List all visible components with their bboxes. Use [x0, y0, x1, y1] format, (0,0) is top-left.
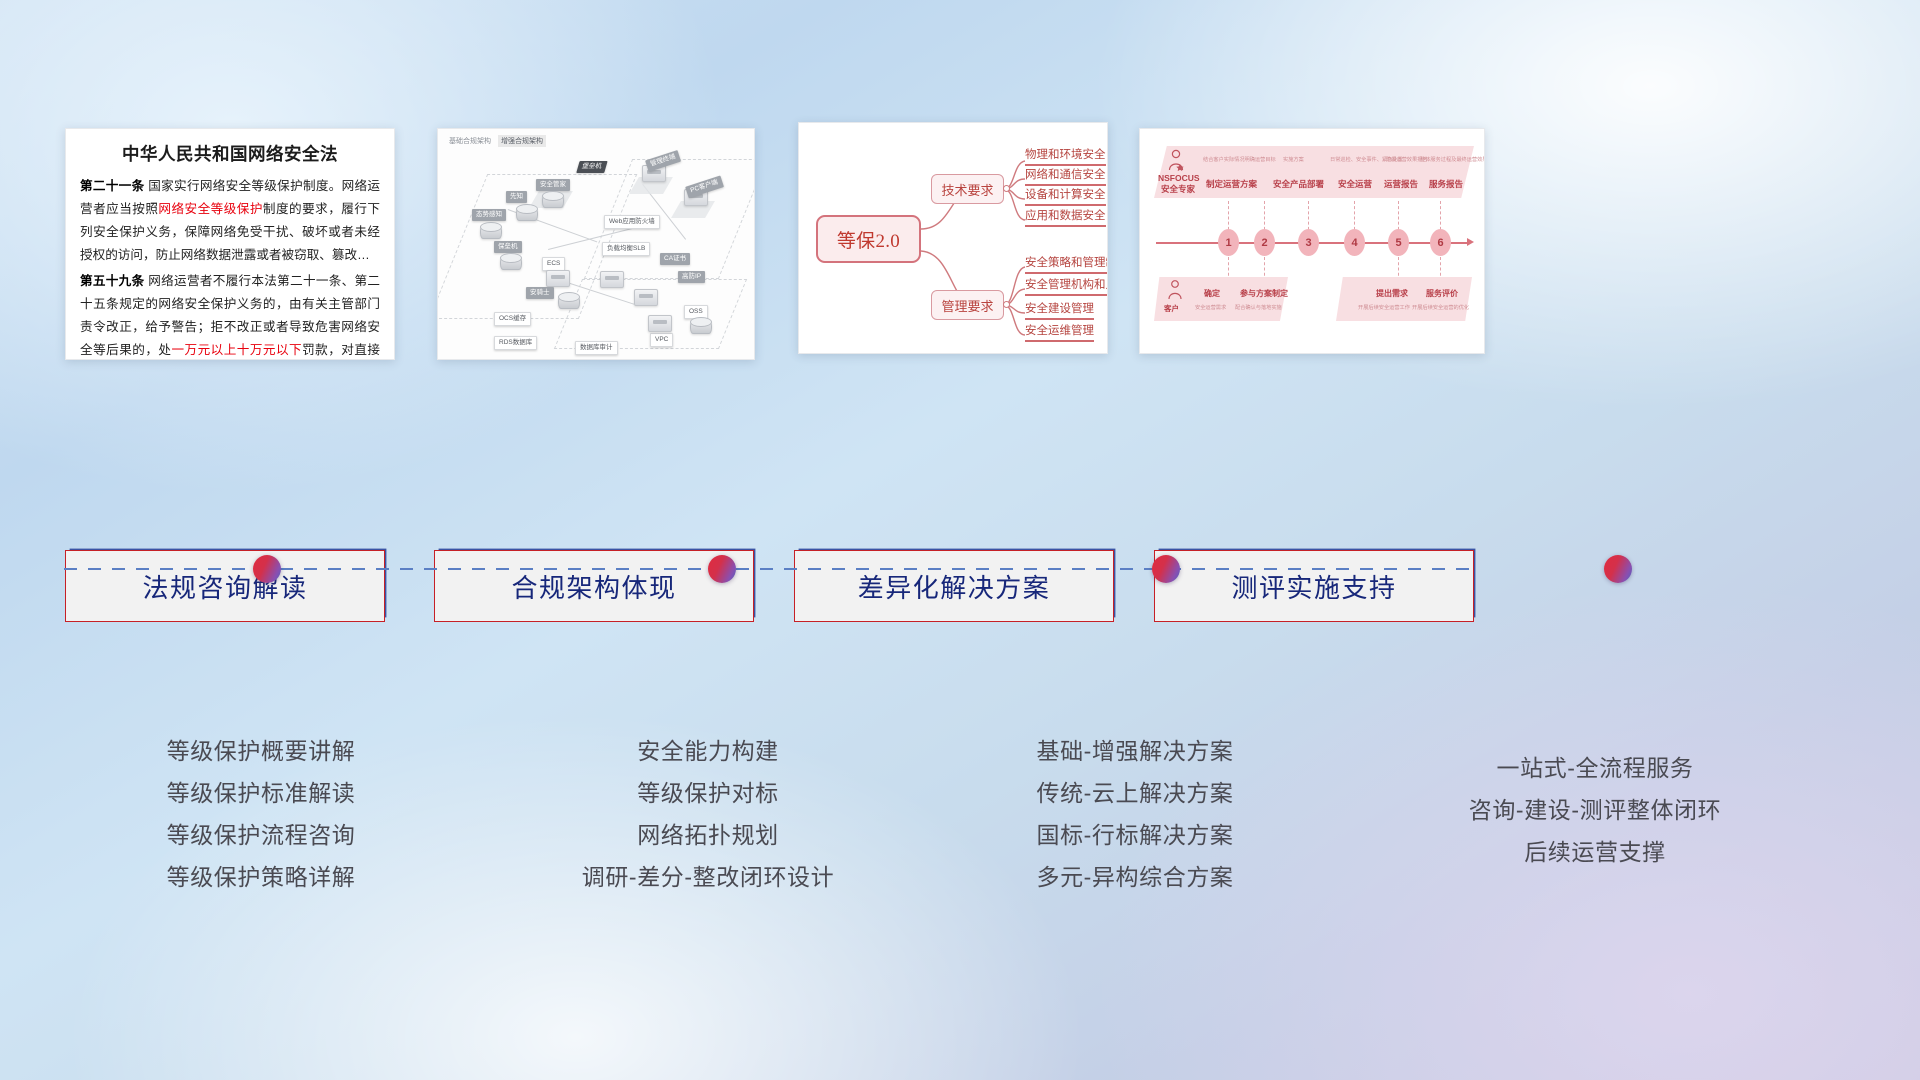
article-21-label: 第二十一条 — [80, 179, 144, 193]
headline-box-2[interactable]: 合规架构体现 — [434, 550, 754, 622]
card-law-text: 中华人民共和国网络安全法 第二十一条 国家实行网络安全等级保护制度。网络运营者应… — [65, 128, 395, 360]
node-anti-ddos-ip: 高防IP — [678, 271, 705, 283]
column-2-item-3: 网络拓扑规划 — [528, 824, 888, 847]
timeline-marker-4[interactable] — [1604, 555, 1632, 583]
stage-5-subtitle: 整体服务过程及最终运营效果 — [1420, 156, 1485, 163]
column-2-item-4: 调研-差分-整改闭环设计 — [528, 866, 888, 889]
mindmap-leaf-construction-mgmt: 安全建设管理 — [1025, 302, 1094, 320]
customer-1-subtitle: 安全运营需求 — [1195, 304, 1226, 311]
customer-4-subtitle: 开展后续安全运营的优化 — [1412, 304, 1469, 311]
node-xianzhi: 先知 — [506, 191, 527, 203]
column-3-item-2: 传统-云上解决方案 — [955, 782, 1315, 805]
column-4-item-1: 一站式-全流程服务 — [1380, 757, 1810, 780]
mindmap-leaf-org-personnel: 安全管理机构和人员 — [1025, 278, 1108, 296]
pbox-slb-a — [600, 271, 624, 288]
customer-icon — [1166, 279, 1184, 301]
column-4-item-3: 后续运营支撑 — [1380, 841, 1810, 864]
cylinder-xianzhi — [516, 207, 538, 221]
column-2-item-2: 等级保护对标 — [528, 782, 888, 805]
mindmap-leaf-ops-mgmt: 安全运维管理 — [1025, 324, 1094, 342]
customer-2-title: 参与方案制定 — [1240, 288, 1288, 299]
customer-4-title: 服务评价 — [1426, 288, 1458, 299]
law-article-21: 第二十一条 国家实行网络安全等级保护制度。网络运营者应当按照网络安全等级保护制度… — [80, 175, 380, 267]
column-4-item-2: 咨询-建设-测评整体闭环 — [1380, 799, 1810, 822]
article-59-label: 第五十九条 — [80, 274, 144, 288]
expert-icon — [1166, 149, 1186, 173]
node-bastion-host-dark: 堡垒机 — [576, 161, 607, 173]
node-load-balancer-slb: 负载均衡SLB — [602, 242, 650, 256]
stage-3-title: 安全运营 — [1338, 178, 1372, 190]
headline-label-4: 测评实施支持 — [1231, 568, 1396, 605]
node-bastion-host: 保垒机 — [494, 241, 522, 253]
pbox-vpc — [648, 315, 672, 332]
column-1: 等级保护概要讲解 等级保护标准解读 等级保护流程咨询 等级保护策略详解 — [65, 740, 457, 908]
customer-1-title: 确定 — [1204, 288, 1220, 299]
customer-2-subtitle: 配合确认与落地实施 — [1235, 304, 1282, 311]
customer-3-subtitle: 开展后续安全运营工作 — [1358, 304, 1410, 311]
mindmap-branch-management: 管理要求 — [931, 290, 1004, 320]
nsfocus-brand-line2: 安全专家 — [1158, 184, 1198, 195]
customer-label: 客户 — [1164, 303, 1179, 314]
timeline-node-6: 6 — [1430, 229, 1451, 256]
customer-3-title: 提出需求 — [1376, 288, 1408, 299]
stage-1-title: 制定运营方案 — [1206, 178, 1257, 190]
timeline-node-3: 3 — [1298, 229, 1319, 256]
article-59-highlight-1: 一万元以上十万元以下 — [171, 343, 302, 357]
architecture-canvas: 堡垒机 安全管家 先知 态势感知 保垒机 ECS 安骑士 OCS缓存 RDS数据… — [438, 129, 754, 359]
column-2-item-1: 安全能力构建 — [528, 740, 888, 763]
law-article-59: 第五十九条 网络运营者不履行本法第二十一条、第二十五条规定的网络安全保护义务的，… — [80, 270, 380, 360]
timeline-arrow-icon — [1467, 238, 1474, 246]
nsfocus-brand: NSFOCUS 安全专家 — [1158, 173, 1198, 194]
card-cloud-architecture: 基础合规架构 增强合规架构 堡垒机 安全管家 先知 态势感知 保垒机 ECS 安… — [437, 128, 755, 360]
column-4: 一站式-全流程服务 咨询-建设-测评整体闭环 后续运营支撑 — [1380, 757, 1810, 883]
mindmap-leaf-physical-env: 物理和环境安全 — [1025, 148, 1106, 166]
timeline-marker-3[interactable] — [1152, 555, 1180, 583]
stage-2-subtitle: 实施方案 — [1283, 156, 1304, 163]
stage-5-title: 服务报告 — [1429, 178, 1463, 190]
headline-label-3: 差异化解决方案 — [858, 568, 1051, 605]
node-rds-database: RDS数据库 — [494, 336, 537, 350]
customer-band-right — [1336, 277, 1472, 321]
timeline-node-4: 4 — [1344, 229, 1365, 256]
timeline-node-1: 1 — [1218, 229, 1239, 256]
timeline-top-band — [1154, 146, 1474, 198]
node-web-application-firewall: Web应用防火墙 — [604, 215, 660, 229]
nsfocus-brand-line1: NSFOCUS — [1158, 173, 1198, 184]
node-ocs-cache: OCS缓存 — [494, 312, 531, 326]
headline-box-3[interactable]: 差异化解决方案 — [794, 550, 1114, 622]
column-2: 安全能力构建 等级保护对标 网络拓扑规划 调研-差分-整改闭环设计 — [528, 740, 888, 908]
cylinder-situational-awareness — [480, 225, 502, 239]
slide-canvas: 中华人民共和国网络安全法 第二十一条 国家实行网络安全等级保护制度。网络运营者应… — [0, 0, 1920, 1080]
headline-box-4[interactable]: 测评实施支持 — [1154, 550, 1474, 622]
column-3: 基础-增强解决方案 传统-云上解决方案 国标-行标解决方案 多元-异构综合方案 — [955, 740, 1315, 908]
headline-label-2: 合规架构体现 — [511, 568, 676, 605]
column-3-item-4: 多元-异构综合方案 — [955, 866, 1315, 889]
mindmap-leaf-policy-system: 安全策略和管理制度 — [1025, 256, 1108, 274]
stage-4-title: 运营报告 — [1384, 178, 1418, 190]
column-1-item-2: 等级保护标准解读 — [65, 782, 457, 805]
cylinder-bastion-host — [500, 256, 522, 270]
node-vpc: VPC — [650, 333, 673, 347]
timeline-node-2: 2 — [1254, 229, 1275, 256]
card-nsfocus-timeline: NSFOCUS 安全专家 结合客户实际情况明确运营目标 制定运营方案 实施方案 … — [1139, 128, 1485, 354]
node-situational-awareness: 态势感知 — [472, 209, 506, 221]
card-mindmap: 等保2.0 技术要求 管理要求 物理和环境安全 网络和通信安全 设备和计算安全 … — [798, 122, 1108, 354]
cylinder-anqishi — [558, 295, 580, 309]
timeline-marker-1[interactable] — [253, 555, 281, 583]
node-security-butler: 安全管家 — [536, 179, 570, 191]
cylinder-security-butler — [542, 194, 564, 208]
headline-label-1: 法规咨询解读 — [142, 568, 307, 605]
stage-1-subtitle: 结合客户实际情况明确运营目标 — [1203, 156, 1276, 163]
column-3-item-1: 基础-增强解决方案 — [955, 740, 1315, 763]
mindmap-leaf-device-compute: 设备和计算安全 — [1025, 188, 1106, 206]
pbox-slb-b — [634, 289, 658, 306]
headline-box-1[interactable]: 法规咨询解读 — [65, 550, 385, 622]
column-1-item-1: 等级保护概要讲解 — [65, 740, 457, 763]
node-ca-certificate: CA证书 — [660, 253, 690, 265]
mindmap-leaf-app-data: 应用和数据安全 — [1025, 209, 1106, 227]
pbox-ecs — [546, 270, 570, 287]
timeline-node-5: 5 — [1388, 229, 1409, 256]
mindmap-leaf-network-comm: 网络和通信安全 — [1025, 168, 1106, 186]
column-3-item-3: 国标-行标解决方案 — [955, 824, 1315, 847]
law-title: 中华人民共和国网络安全法 — [80, 141, 380, 166]
mindmap-dot-management — [1003, 301, 1010, 308]
node-ecs: ECS — [542, 257, 565, 271]
stage-2-title: 安全产品部署 — [1273, 178, 1324, 190]
mindmap-dot-technical — [1003, 185, 1010, 192]
mindmap-branch-technical: 技术要求 — [931, 174, 1004, 204]
node-database-audit: 数据库审计 — [575, 341, 618, 355]
node-anqishi: 安骑士 — [526, 287, 554, 299]
column-1-item-4: 等级保护策略详解 — [65, 866, 457, 889]
cylinder-oss — [690, 320, 712, 334]
column-1-item-3: 等级保护流程咨询 — [65, 824, 457, 847]
timeline-marker-2[interactable] — [708, 555, 736, 583]
article-21-highlight: 网络安全等级保护 — [158, 202, 263, 216]
